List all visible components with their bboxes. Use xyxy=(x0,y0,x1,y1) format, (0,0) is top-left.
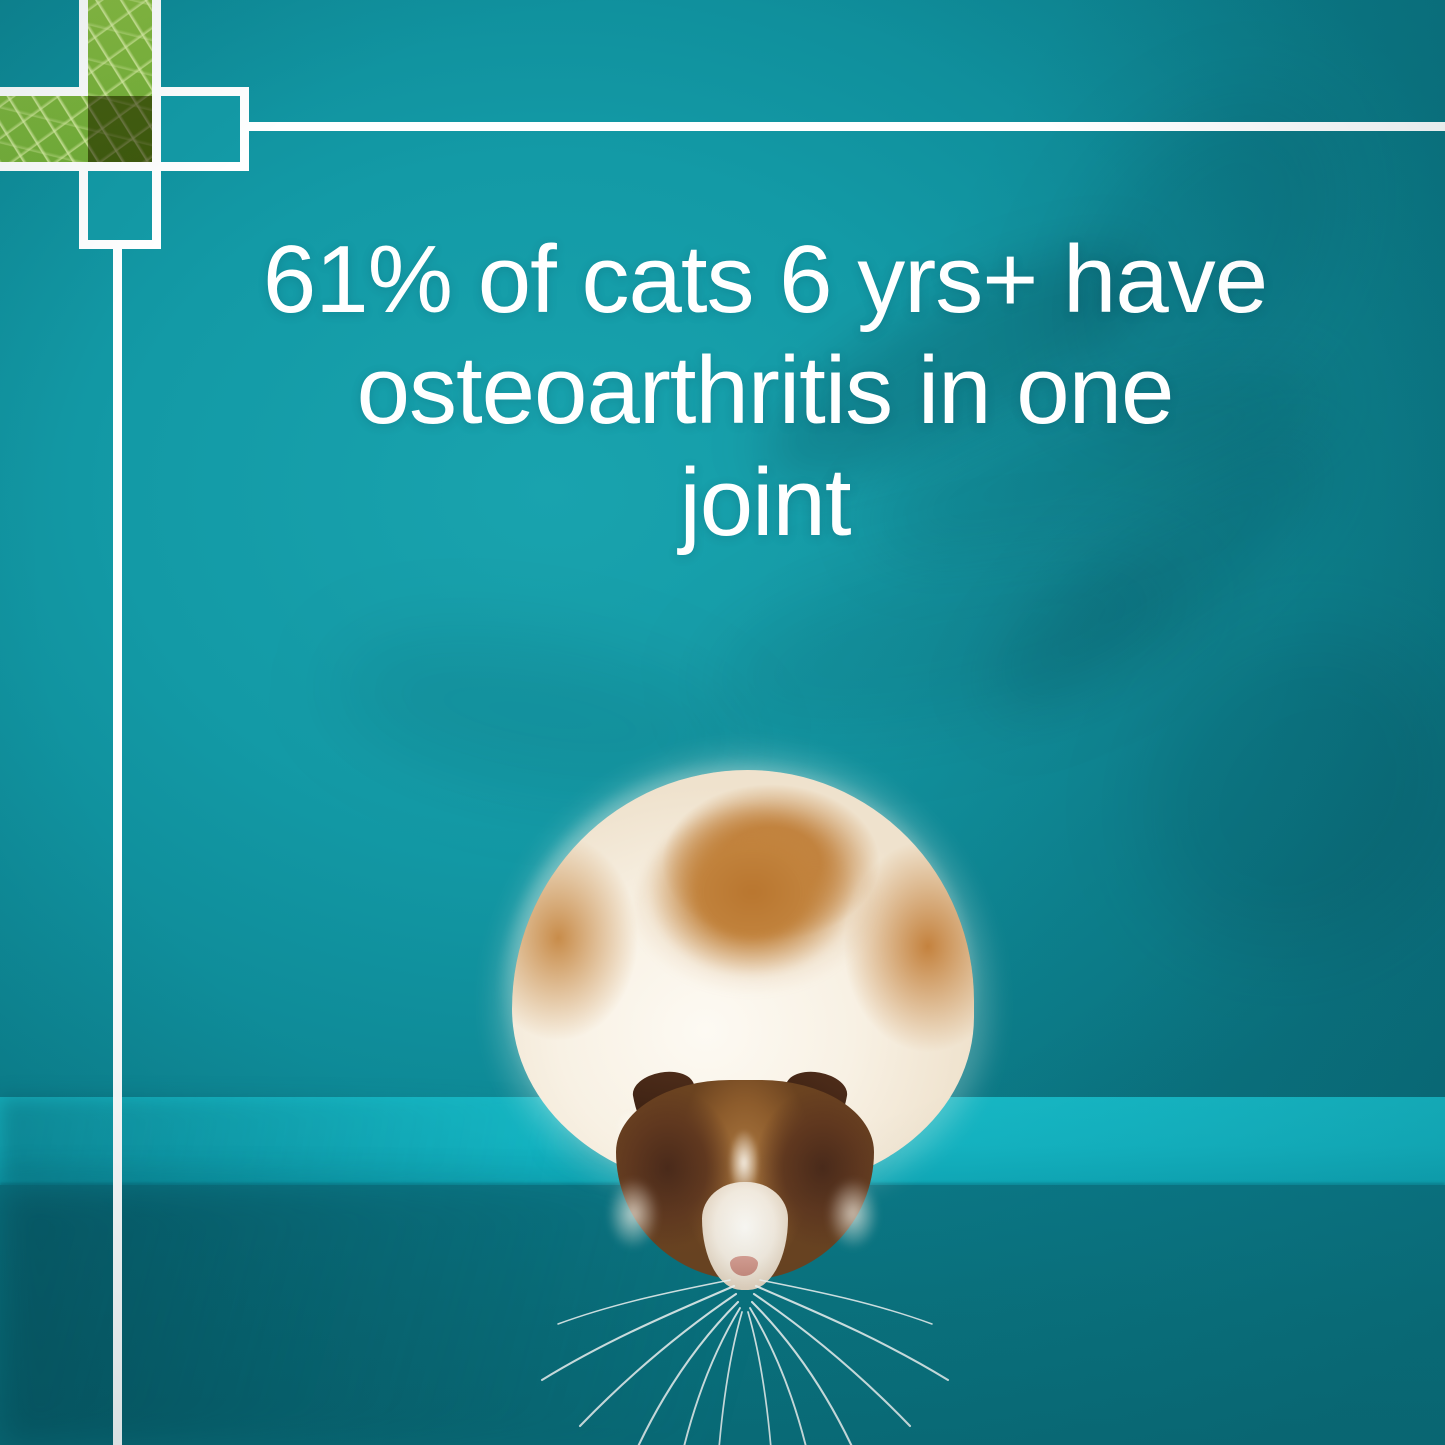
cat-cheek-fluff-left xyxy=(598,1166,668,1262)
left-vertical-rule xyxy=(113,240,122,1445)
headline-line-1: 61% of cats 6 yrs+ have xyxy=(150,224,1380,335)
leaf-fill-center-dark xyxy=(88,96,152,162)
cat-cheek-fluff-right xyxy=(818,1166,888,1262)
leaf-fill-left xyxy=(0,96,88,162)
cross-vertical-arm-bottom xyxy=(88,162,152,240)
headline-line-3: joint xyxy=(150,447,1380,558)
page-title: 61% of cats 6 yrs+ have osteoarthritis i… xyxy=(150,224,1380,558)
cross-right-block xyxy=(152,96,240,162)
cat-head xyxy=(594,1070,894,1320)
poster-canvas: 61% of cats 6 yrs+ have osteoarthritis i… xyxy=(0,0,1445,1445)
top-horizontal-rule xyxy=(240,122,1445,131)
headline-line-2: osteoarthritis in one xyxy=(150,335,1380,446)
ragdoll-cat xyxy=(508,770,978,1330)
cat-whiskers xyxy=(484,1250,1004,1445)
